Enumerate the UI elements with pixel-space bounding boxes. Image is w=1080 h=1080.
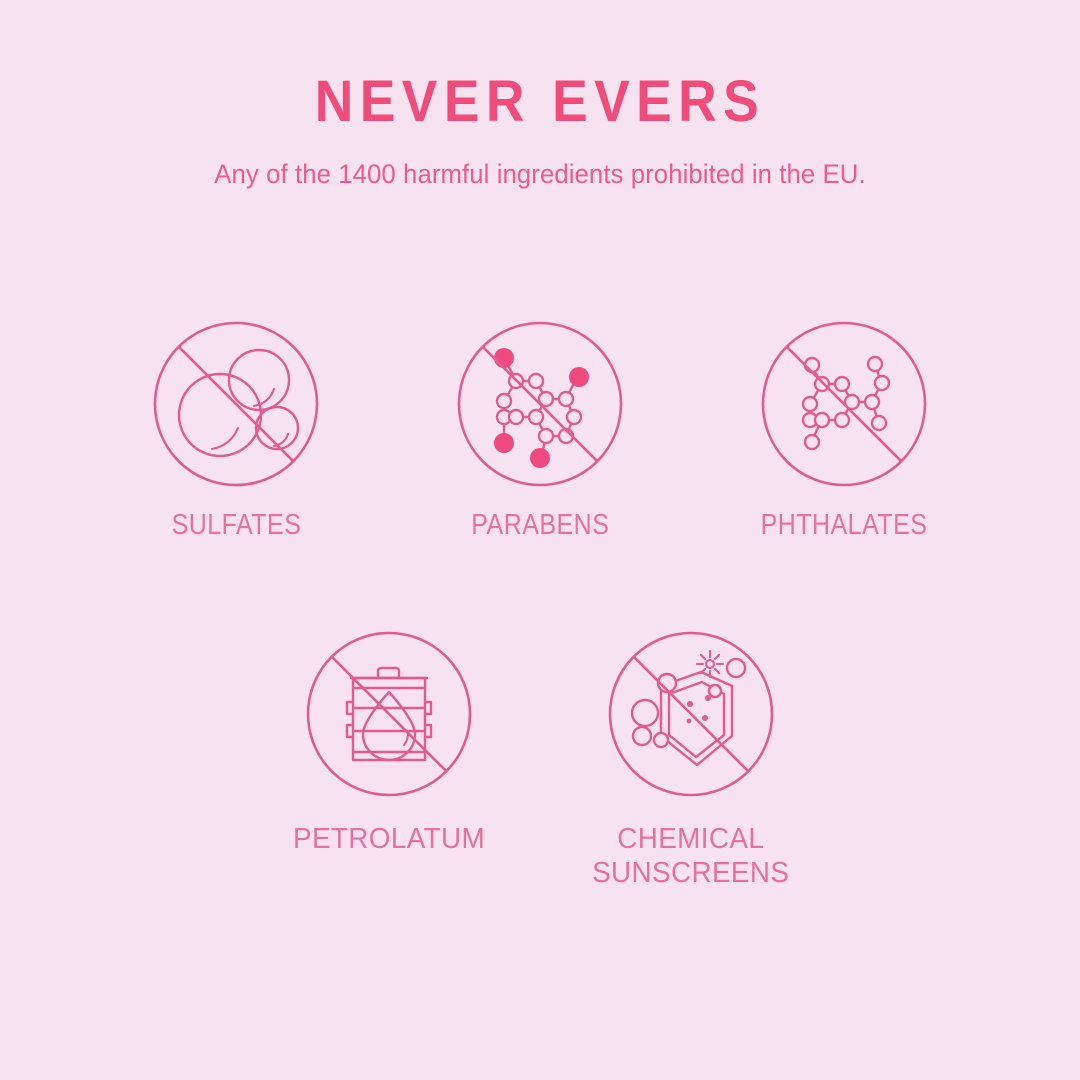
- no-sulfates-bubbles-icon: [150, 318, 322, 490]
- ingredient-label: PHTHALATES: [761, 508, 928, 542]
- no-parabens-molecule-icon: [454, 318, 626, 490]
- page-title: NEVER EVERS: [43, 0, 1037, 133]
- page-subtitle: Any of the 1400 harmful ingredients proh…: [16, 133, 1064, 190]
- ingredient-item-petrolatum: PETROLATUM: [238, 628, 540, 890]
- ingredient-label: PETROLATUM: [293, 822, 485, 856]
- no-petrolatum-barrel-icon: [303, 628, 475, 800]
- no-chemical-sunscreens-shield-icon: [605, 628, 777, 800]
- header: NEVER EVERS Any of the 1400 harmful ingr…: [0, 0, 1080, 190]
- ingredient-label: CHEMICAL SUNSCREENS: [592, 822, 789, 890]
- ingredient-item-chemical-sunscreens: CHEMICAL SUNSCREENS: [540, 628, 842, 890]
- ingredient-row-2: PETROLATUM: [0, 628, 1080, 890]
- ingredient-row-1: SULFATES: [0, 318, 1080, 542]
- ingredient-item-parabens: PARABENS: [388, 318, 692, 542]
- ingredient-item-sulfates: SULFATES: [84, 318, 388, 542]
- ingredient-label: PARABENS: [471, 508, 609, 542]
- ingredient-label: SULFATES: [171, 508, 301, 542]
- ingredient-item-phthalates: PHTHALATES: [692, 318, 996, 542]
- no-phthalates-molecule-icon: [758, 318, 930, 490]
- sun-starburst-icon: [697, 651, 723, 677]
- never-evers-infographic: NEVER EVERS Any of the 1400 harmful ingr…: [0, 0, 1080, 1080]
